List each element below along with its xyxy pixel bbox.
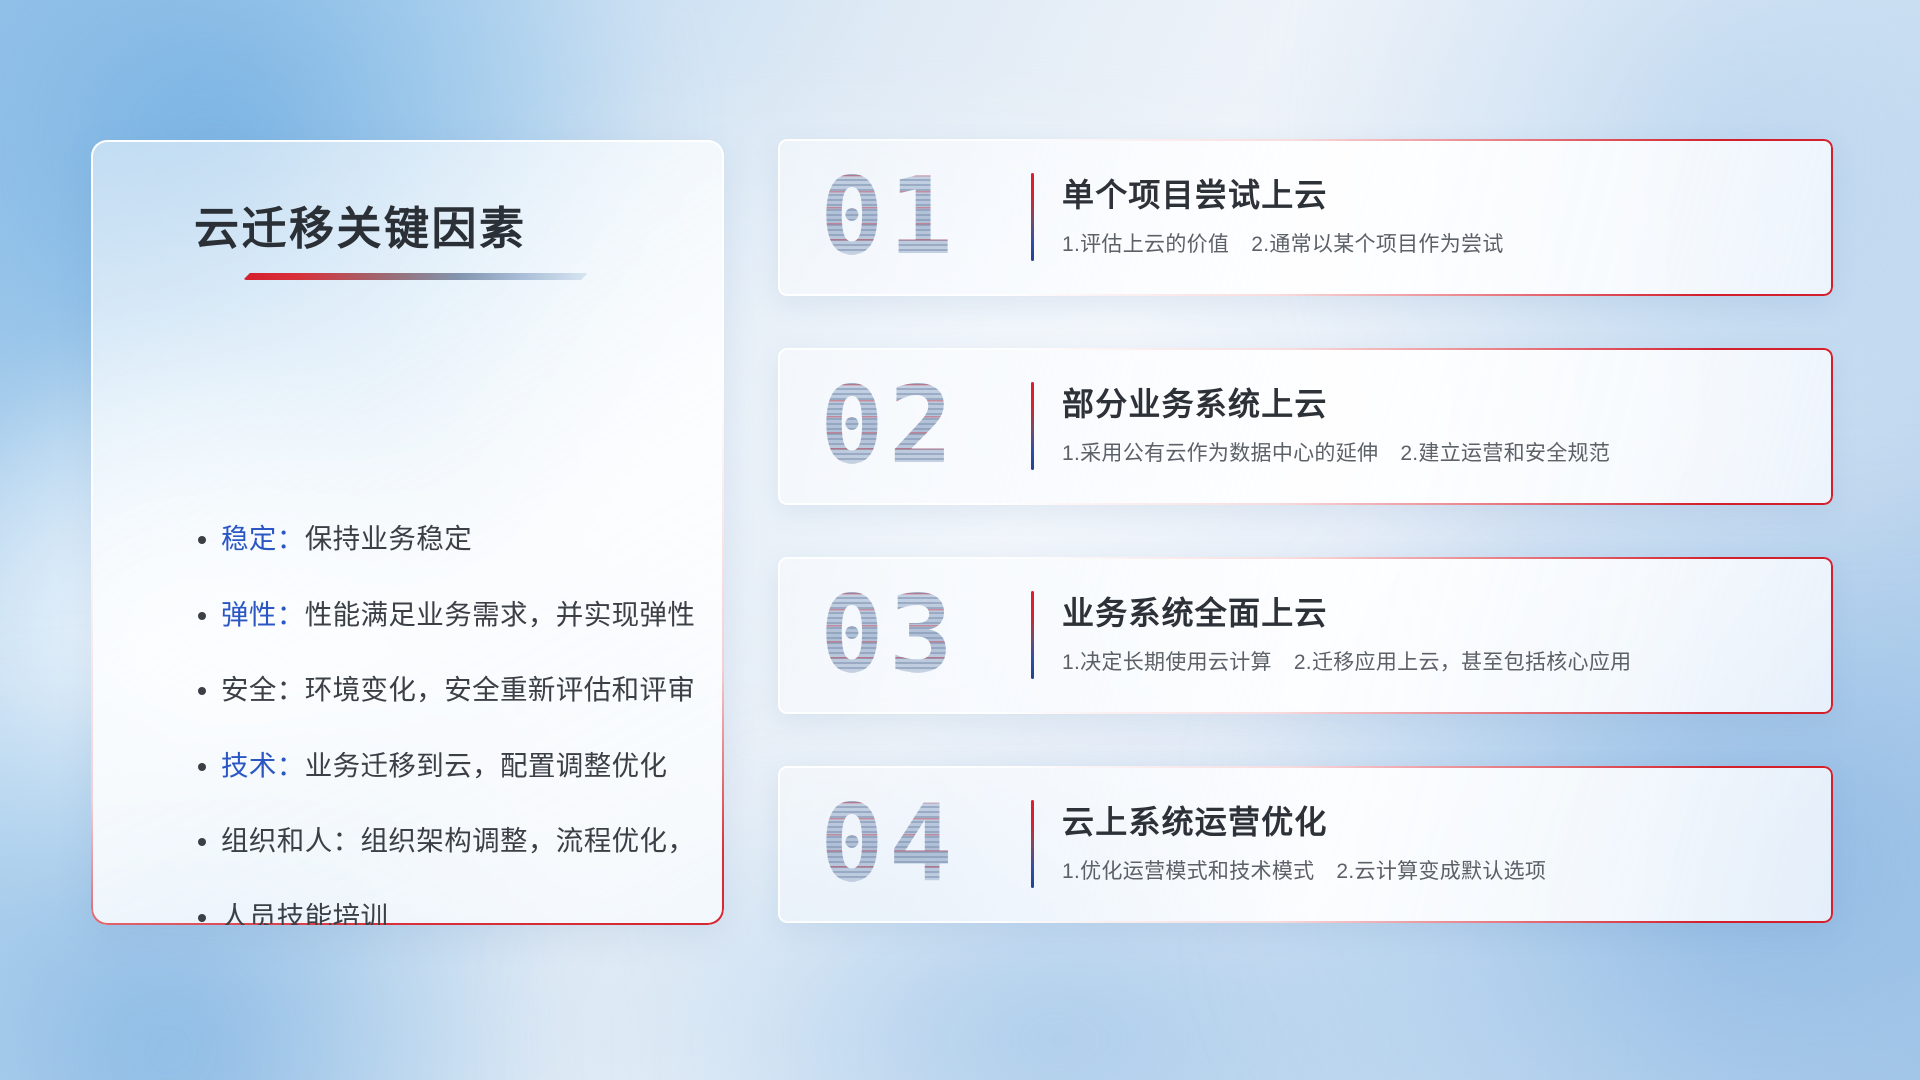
key-factor-label: 稳定： [221, 523, 305, 554]
step-accent-bar [1031, 591, 1034, 679]
step-point: 1.评估上云的价值 [1062, 233, 1229, 256]
step-point: 2.迁移应用上云，甚至包括核心应用 [1294, 651, 1632, 674]
key-factor-label: 技术： [221, 750, 305, 781]
key-factor-value: 性能满足业务需求，并实现弹性 [305, 599, 696, 630]
step-number-watermark: 03 [820, 577, 1020, 693]
step-number-watermark: 04 [820, 786, 1020, 902]
step-title: 部分业务系统上云 [1062, 379, 1328, 425]
page-title: 云迁移关键因素 [194, 192, 527, 257]
step-point: 2.云计算变成默认选项 [1336, 860, 1546, 883]
step-accent-bar [1031, 173, 1034, 261]
key-factor-item: 组织和人：组织架构调整，流程优化， [221, 827, 684, 855]
key-factor-item: 人员技能培训 [221, 903, 684, 926]
step-card-01[interactable]: 01单个项目尝试上云1.评估上云的价值2.通常以某个项目作为尝试 [778, 139, 1833, 296]
key-factor-value: 保持业务稳定 [305, 523, 472, 554]
key-factors-list: 稳定：保持业务稳定弹性：性能满足业务需求，并实现弹性安全：环境变化，安全重新评估… [221, 525, 684, 925]
step-point: 1.优化运营模式和技术模式 [1062, 860, 1314, 883]
key-factor-label: 组织和人： [221, 825, 361, 856]
step-card-04[interactable]: 04云上系统运营优化1.优化运营模式和技术模式2.云计算变成默认选项 [778, 766, 1833, 923]
key-factor-value: 组织架构调整，流程优化， [361, 825, 696, 856]
step-card-03[interactable]: 03业务系统全面上云1.决定长期使用云计算2.迁移应用上云，甚至包括核心应用 [778, 557, 1833, 714]
step-point: 1.决定长期使用云计算 [1062, 651, 1272, 674]
key-factor-label: 弹性： [221, 599, 305, 630]
step-number-watermark: 01 [820, 159, 1020, 275]
slide-stage: 云迁移关键因素 稳定：保持业务稳定弹性：性能满足业务需求，并实现弹性安全：环境变… [0, 0, 1920, 1080]
title-underline-rule [243, 273, 588, 280]
step-accent-bar [1031, 800, 1034, 888]
step-number-watermark: 02 [820, 368, 1020, 484]
key-factor-value: 环境变化，安全重新评估和评审 [305, 674, 696, 705]
step-card-02[interactable]: 02部分业务系统上云1.采用公有云作为数据中心的延伸2.建立运营和安全规范 [778, 348, 1833, 505]
step-accent-bar [1031, 382, 1034, 470]
step-points: 1.采用公有云作为数据中心的延伸2.建立运营和安全规范 [1062, 437, 1610, 467]
step-title: 单个项目尝试上云 [1062, 170, 1328, 216]
key-factor-item: 弹性：性能满足业务需求，并实现弹性 [221, 601, 684, 629]
step-points: 1.决定长期使用云计算2.迁移应用上云，甚至包括核心应用 [1062, 646, 1631, 676]
key-factors-panel: 云迁移关键因素 稳定：保持业务稳定弹性：性能满足业务需求，并实现弹性安全：环境变… [91, 140, 724, 925]
step-point: 2.建立运营和安全规范 [1400, 442, 1610, 465]
key-factor-item: 安全：环境变化，安全重新评估和评审 [221, 676, 684, 704]
step-point: 1.采用公有云作为数据中心的延伸 [1062, 442, 1378, 465]
key-factor-value: 业务迁移到云，配置调整优化 [305, 750, 668, 781]
key-factor-value: 人员技能培训 [221, 901, 388, 926]
key-factor-item: 稳定：保持业务稳定 [221, 525, 684, 553]
step-title: 业务系统全面上云 [1062, 588, 1328, 634]
key-factor-item: 技术：业务迁移到云，配置调整优化 [221, 752, 684, 780]
step-point: 2.通常以某个项目作为尝试 [1251, 233, 1503, 256]
key-factor-label: 安全： [221, 674, 305, 705]
step-title: 云上系统运营优化 [1062, 797, 1328, 843]
step-points: 1.优化运营模式和技术模式2.云计算变成默认选项 [1062, 855, 1546, 885]
step-points: 1.评估上云的价值2.通常以某个项目作为尝试 [1062, 228, 1504, 258]
